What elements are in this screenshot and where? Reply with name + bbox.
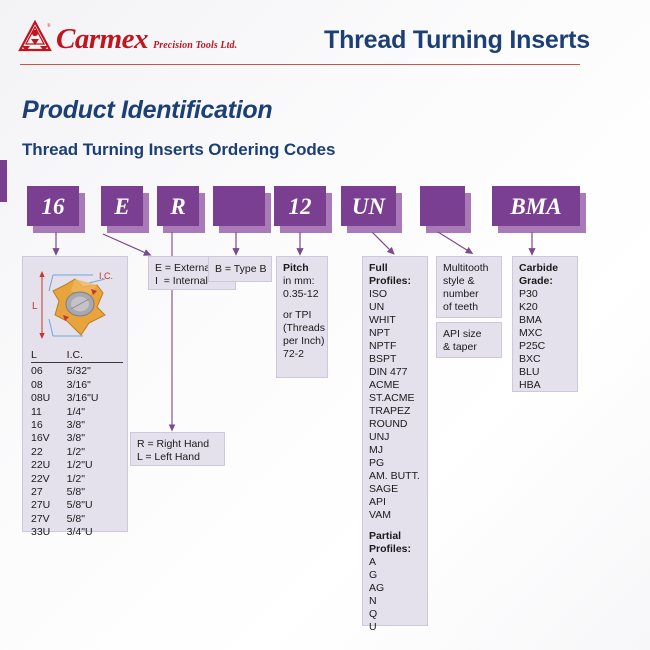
- full-profile-item: BSPT: [369, 353, 421, 366]
- code-box-7[interactable]: [420, 186, 465, 226]
- partial-profiles-heading-1: Partial: [369, 530, 421, 543]
- ic-cell-l: 06: [31, 365, 67, 378]
- ic-table-row: 16V3/8": [31, 432, 123, 445]
- ic-cell-l: 22U: [31, 459, 67, 472]
- partial-profile-item: N: [369, 595, 421, 608]
- code-box-label: 12: [289, 195, 312, 218]
- page-canvas: ® Carmex Precision Tools Ltd. Thread Tur…: [0, 0, 650, 650]
- full-profile-item: UN: [369, 301, 421, 314]
- partial-profile-item: A: [369, 556, 421, 569]
- full-profile-item: NPT: [369, 327, 421, 340]
- pitch-box: Pitch in mm: 0.35-12 or TPI (Threads per…: [276, 256, 328, 378]
- carbide-grade-item: HBA: [519, 379, 571, 392]
- full-profile-item: AM. BUTT.: [369, 470, 421, 483]
- ic-cell-l: 08U: [31, 392, 67, 405]
- api-line-2: & taper: [443, 341, 495, 354]
- ic-cell-l: 16V: [31, 432, 67, 445]
- ic-cell-ic: 1/2"U: [67, 459, 123, 472]
- code-box-8[interactable]: BMA: [492, 186, 580, 226]
- full-profile-item: WHIT: [369, 314, 421, 327]
- header-divider: [20, 64, 580, 65]
- ic-table-row: 083/16": [31, 379, 123, 392]
- ic-cell-l: 27V: [31, 513, 67, 526]
- code-box-5[interactable]: 12: [274, 186, 326, 226]
- svg-text:®: ®: [47, 23, 51, 29]
- code-box-6[interactable]: UN: [341, 186, 396, 226]
- insert-diagram: L I.C.: [23, 257, 127, 349]
- ic-cell-l: 27: [31, 486, 67, 499]
- svg-text:L: L: [32, 301, 38, 312]
- ic-cell-ic: 5/32": [67, 365, 123, 378]
- full-profiles-list: ISOUNWHITNPTNPTFBSPTDIN 477ACMEST.ACMETR…: [369, 288, 421, 522]
- full-profile-item: SAGE: [369, 483, 421, 496]
- full-profile-item: MJ: [369, 444, 421, 457]
- carmex-triangle-icon: ®: [18, 20, 52, 54]
- full-profiles-heading-2: Profiles:: [369, 275, 421, 288]
- carbide-grade-item: P25C: [519, 340, 571, 353]
- ic-cell-l: 22V: [31, 473, 67, 486]
- profiles-box: Full Profiles: ISOUNWHITNPTNPTFBSPTDIN 4…: [362, 256, 428, 626]
- page-title: Thread Turning Inserts: [324, 26, 590, 55]
- api-size-box: API size & taper: [436, 322, 502, 358]
- right-hand-line: R = Right Hand: [137, 438, 218, 451]
- code-box-face: BMA: [492, 186, 580, 226]
- ic-table-row: 22U1/2"U: [31, 459, 123, 472]
- carbide-grade-item: BXC: [519, 353, 571, 366]
- ic-cell-ic: 1/2": [67, 473, 123, 486]
- multitooth-line-2: style &: [443, 275, 495, 288]
- code-box-face: 12: [274, 186, 326, 226]
- ic-cell-ic: 5/8": [67, 486, 123, 499]
- ic-cell-ic: 3/16"U: [67, 392, 123, 405]
- ic-table: L I.C. 065/32"083/16"08U3/16"U111/4"163/…: [31, 349, 123, 540]
- carbide-grade-item: MXC: [519, 327, 571, 340]
- ic-cell-ic: 5/8": [67, 513, 123, 526]
- ic-cell-ic: 1/4": [67, 406, 123, 419]
- full-profile-item: NPTF: [369, 340, 421, 353]
- partial-profiles-list: AGAGNQU: [369, 556, 421, 634]
- partial-profile-item: Q: [369, 608, 421, 621]
- code-box-label: R: [170, 195, 185, 218]
- code-box-3[interactable]: R: [157, 186, 199, 226]
- code-box-label: 16: [42, 195, 65, 218]
- full-profile-item: PG: [369, 457, 421, 470]
- carbide-heading-1: Carbide: [519, 262, 571, 275]
- multitooth-line-3: number: [443, 288, 495, 301]
- code-box-1[interactable]: 16: [27, 186, 79, 226]
- section-title: Product Identification: [22, 96, 272, 125]
- ic-cell-l: 33U: [31, 526, 67, 539]
- ic-table-row: 22V1/2": [31, 473, 123, 486]
- multitooth-box: Multitooth style & number of teeth: [436, 256, 502, 318]
- full-profile-item: API: [369, 496, 421, 509]
- ic-table-header: L I.C.: [31, 349, 123, 364]
- partial-profiles-heading-2: Profiles:: [369, 543, 421, 556]
- carbide-heading-2: Grade:: [519, 275, 571, 288]
- ic-col-l: L: [31, 349, 67, 363]
- code-box-label: E: [114, 195, 129, 218]
- section-subtitle: Thread Turning Inserts Ordering Codes: [22, 140, 335, 160]
- full-profile-item: ROUND: [369, 418, 421, 431]
- svg-text:I.C.: I.C.: [99, 271, 113, 281]
- ic-table-row: 27V5/8": [31, 513, 123, 526]
- full-profiles-heading-1: Full: [369, 262, 421, 275]
- code-box-face: R: [157, 186, 199, 226]
- pitch-tpi: or TPI: [283, 309, 321, 322]
- full-profile-item: UNJ: [369, 431, 421, 444]
- code-box-4[interactable]: [213, 186, 265, 226]
- partial-profile-item: AG: [369, 582, 421, 595]
- ic-table-row: 111/4": [31, 406, 123, 419]
- type-b-box: B = Type B: [208, 256, 272, 282]
- ic-cell-ic: 3/8": [67, 432, 123, 445]
- pitch-unit: in mm:: [283, 275, 321, 288]
- ic-cell-l: 16: [31, 419, 67, 432]
- ic-col-ic: I.C.: [67, 349, 123, 363]
- brand-tagline: Precision Tools Ltd.: [153, 40, 237, 51]
- full-profile-item: ISO: [369, 288, 421, 301]
- ic-table-row: 163/8": [31, 419, 123, 432]
- full-profile-item: ST.ACME: [369, 392, 421, 405]
- code-box-label: BMA: [510, 195, 561, 218]
- carbide-grade-item: K20: [519, 301, 571, 314]
- carbide-grade-box: Carbide Grade: P30K20BMAMXCP25CBXCBLUHBA: [512, 256, 578, 392]
- full-profile-item: ACME: [369, 379, 421, 392]
- ic-table-row: 275/8": [31, 486, 123, 499]
- ic-table-row: 33U3/4"U: [31, 526, 123, 539]
- carbide-grade-item: BLU: [519, 366, 571, 379]
- carbide-grade-item: P30: [519, 288, 571, 301]
- code-box-face: [213, 186, 265, 226]
- full-profile-item: TRAPEZ: [369, 405, 421, 418]
- partial-profile-item: G: [369, 569, 421, 582]
- full-profile-item: DIN 477: [369, 366, 421, 379]
- pitch-heading: Pitch: [283, 262, 321, 275]
- brand-name: Carmex: [56, 25, 148, 54]
- right-left-hand-box: R = Right Hand L = Left Hand: [130, 432, 225, 466]
- ic-cell-l: 11: [31, 406, 67, 419]
- pitch-tpi-range: 72-2: [283, 348, 321, 361]
- ic-table-row: 221/2": [31, 446, 123, 459]
- ic-cell-ic: 3/16": [67, 379, 123, 392]
- multitooth-line-1: Multitooth: [443, 262, 495, 275]
- partial-profile-item: U: [369, 621, 421, 634]
- type-b-line: B = Type B: [215, 263, 266, 276]
- ic-table-row: 27U5/8"U: [31, 499, 123, 512]
- ic-table-row: 08U3/16"U: [31, 392, 123, 405]
- ic-cell-l: 27U: [31, 499, 67, 512]
- carbide-grade-item: BMA: [519, 314, 571, 327]
- insert-dimension-box: L I.C. L I.C.: [22, 256, 128, 532]
- carbide-grade-list: P30K20BMAMXCP25CBXCBLUHBA: [519, 288, 571, 392]
- left-hand-line: L = Left Hand: [137, 451, 218, 464]
- full-profile-item: VAM: [369, 509, 421, 522]
- ic-cell-ic: 5/8"U: [67, 499, 123, 512]
- code-box-face: [420, 186, 465, 226]
- code-box-label: UN: [352, 195, 385, 218]
- ic-cell-l: 08: [31, 379, 67, 392]
- ic-table-row: 065/32": [31, 365, 123, 378]
- code-box-face: E: [101, 186, 143, 226]
- pitch-tpi-note1: (Threads: [283, 322, 321, 335]
- ic-cell-ic: 3/4"U: [67, 526, 123, 539]
- ic-cell-ic: 1/2": [67, 446, 123, 459]
- carmex-logo: ® Carmex Precision Tools Ltd.: [18, 20, 237, 54]
- pitch-tpi-note2: per Inch): [283, 335, 321, 348]
- code-box-2[interactable]: E: [101, 186, 143, 226]
- ic-cell-l: 22: [31, 446, 67, 459]
- api-line-1: API size: [443, 328, 495, 341]
- left-accent-strip: [0, 160, 7, 202]
- code-box-face: UN: [341, 186, 396, 226]
- ic-cell-ic: 3/8": [67, 419, 123, 432]
- code-box-face: 16: [27, 186, 79, 226]
- multitooth-line-4: of teeth: [443, 301, 495, 314]
- pitch-range-mm: 0.35-12: [283, 288, 321, 301]
